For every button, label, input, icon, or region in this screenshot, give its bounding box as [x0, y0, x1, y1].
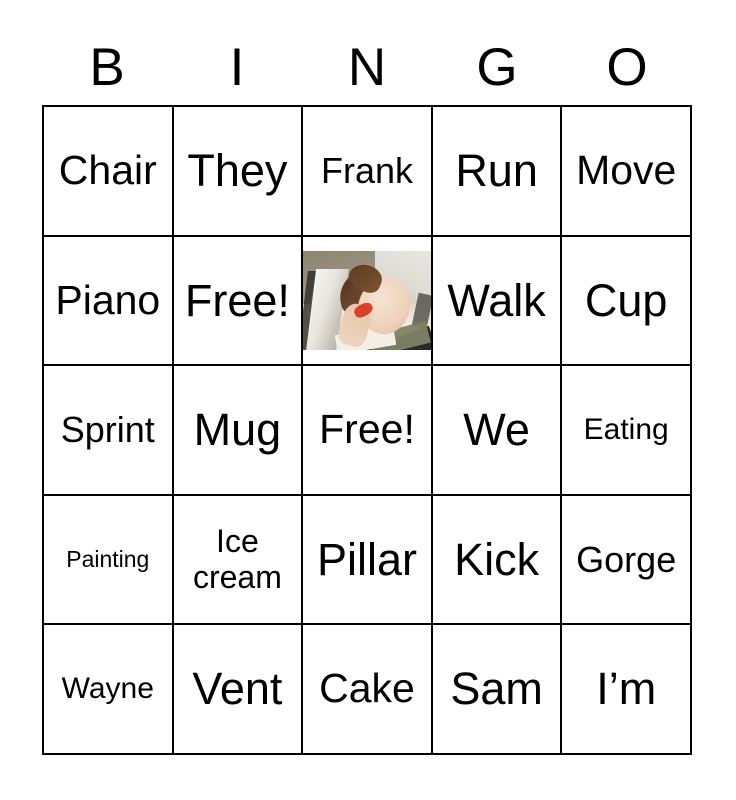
bingo-cell-label: They	[174, 147, 302, 195]
bingo-cell-r3c1[interactable]: Sprint	[44, 366, 174, 496]
bingo-cell-r4c1[interactable]: Painting	[44, 496, 174, 626]
bingo-header-row: BINGO	[42, 34, 692, 100]
bingo-cell-r5c3[interactable]: Cake	[303, 625, 433, 755]
bingo-card: BINGO ChairTheyFrankRunMovePianoFree!Wal…	[0, 0, 736, 800]
bingo-cell-r4c2[interactable]: Ice cream	[174, 496, 304, 626]
bingo-cell-label: Free!	[174, 277, 302, 325]
bingo-header-letter-b: B	[42, 34, 172, 100]
bingo-cell-r2c4[interactable]: Walk	[433, 237, 563, 367]
bingo-cell-label: Walk	[433, 277, 561, 325]
bingo-cell-label: Chair	[44, 149, 172, 192]
bingo-cell-label: Ice cream	[174, 524, 302, 596]
bingo-cell-r3c2[interactable]: Mug	[174, 366, 304, 496]
bingo-cell-label: Cup	[562, 277, 690, 325]
bingo-grid: ChairTheyFrankRunMovePianoFree!WalkCupSp…	[42, 105, 692, 755]
bingo-cell-label: Pillar	[303, 536, 431, 584]
bingo-cell-r1c5[interactable]: Move	[562, 107, 692, 237]
bingo-cell-r1c2[interactable]: They	[174, 107, 304, 237]
bingo-header-letter-o: O	[562, 34, 692, 100]
bingo-cell-label: Sam	[433, 665, 561, 713]
bingo-cell-label: Eating	[562, 414, 690, 446]
bingo-cell-r1c3[interactable]: Frank	[303, 107, 433, 237]
bingo-cell-r5c5[interactable]: I’m	[562, 625, 692, 755]
bingo-cell-r4c3[interactable]: Pillar	[303, 496, 433, 626]
bingo-cell-r1c1[interactable]: Chair	[44, 107, 174, 237]
bingo-cell-label: Mug	[174, 406, 302, 454]
bingo-header-letter-i: I	[172, 34, 302, 100]
bingo-header-letter-g: G	[432, 34, 562, 100]
bingo-cell-label: Frank	[303, 152, 431, 190]
bingo-cell-label: Cake	[303, 667, 431, 710]
person-in-car-photo	[303, 251, 431, 351]
bingo-cell-r3c4[interactable]: We	[433, 366, 563, 496]
bingo-cell-r2c1[interactable]: Piano	[44, 237, 174, 367]
bingo-cell-r4c4[interactable]: Kick	[433, 496, 563, 626]
bingo-cell-label: Painting	[44, 547, 172, 571]
bingo-cell-label: Piano	[44, 279, 172, 322]
bingo-cell-label: Vent	[174, 665, 302, 713]
bingo-cell-label: Wayne	[44, 673, 172, 705]
bingo-cell-r1c4[interactable]: Run	[433, 107, 563, 237]
bingo-cell-label: Gorge	[562, 541, 690, 579]
bingo-cell-r5c4[interactable]: Sam	[433, 625, 563, 755]
bingo-cell-r2c3[interactable]	[303, 237, 433, 367]
bingo-cell-label: Free!	[303, 408, 431, 451]
bingo-cell-r5c1[interactable]: Wayne	[44, 625, 174, 755]
bingo-cell-label: Kick	[433, 536, 561, 584]
bingo-cell-label: We	[433, 406, 561, 454]
bingo-cell-label: Sprint	[44, 411, 172, 449]
bingo-cell-label: Move	[562, 149, 690, 192]
bingo-cell-label: Run	[433, 147, 561, 195]
bingo-cell-r4c5[interactable]: Gorge	[562, 496, 692, 626]
bingo-header-letter-n: N	[302, 34, 432, 100]
bingo-cell-r3c5[interactable]: Eating	[562, 366, 692, 496]
bingo-cell-r3c3[interactable]: Free!	[303, 366, 433, 496]
bingo-cell-r2c2[interactable]: Free!	[174, 237, 304, 367]
bingo-cell-r2c5[interactable]: Cup	[562, 237, 692, 367]
bingo-cell-r5c2[interactable]: Vent	[174, 625, 304, 755]
bingo-cell-label: I’m	[562, 665, 690, 713]
